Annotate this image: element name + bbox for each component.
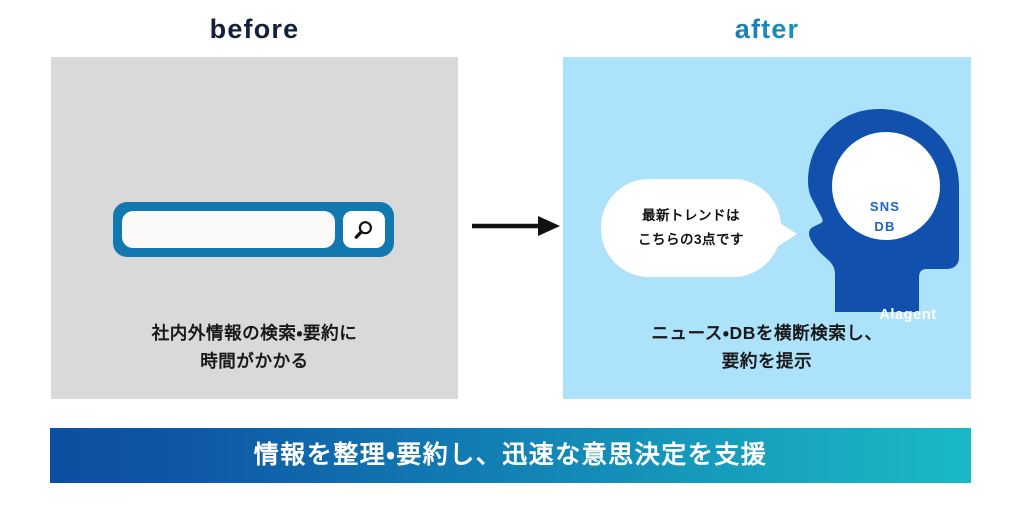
summary-banner-text: 情報を整理・要約し、迅速な意思決定を支援 — [254, 443, 768, 468]
search-button[interactable] — [343, 211, 385, 248]
speech-bubble: 最新トレンドは こちらの3点です — [601, 179, 781, 277]
column-title-after: after — [563, 16, 971, 43]
speech-bubble-line-1: 最新トレンドは — [642, 204, 740, 228]
magnifier-icon — [353, 219, 375, 241]
column-title-before: before — [51, 16, 458, 43]
before-caption: 社内外情報の検索・要約に 時間がかかる — [51, 319, 458, 375]
before-caption-line-1: 社内外情報の検索・要約に — [51, 319, 458, 347]
infographic-canvas: before after 社内外情報の検索・要約に 時間がかかる — [0, 0, 1024, 512]
speech-bubble-line-2: こちらの3点です — [638, 228, 744, 252]
transition-arrow — [470, 212, 562, 240]
speech-bubble-text: 最新トレンドは こちらの3点です — [601, 179, 781, 277]
brain-label-db: DB — [849, 217, 921, 237]
search-input[interactable] — [122, 211, 335, 248]
after-panel: SNS DB Alagent 最新トレンドは こちらの3点です ニュース・DBを… — [563, 57, 971, 399]
before-panel: 社内外情報の検索・要約に 時間がかかる — [51, 57, 458, 399]
arrow-right-icon — [470, 212, 562, 240]
after-caption-line-1: ニュース・DBを横断検索し、 — [563, 319, 971, 347]
brain-label-sns: SNS — [849, 197, 921, 217]
brain-knowledge-labels: SNS DB — [849, 197, 921, 237]
after-caption: ニュース・DBを横断検索し、 要約を提示 — [563, 319, 971, 375]
search-box[interactable] — [113, 202, 394, 257]
after-caption-line-2: 要約を提示 — [563, 347, 971, 375]
summary-banner: 情報を整理・要約し、迅速な意思決定を支援 — [50, 428, 971, 483]
before-caption-line-2: 時間がかかる — [51, 347, 458, 375]
